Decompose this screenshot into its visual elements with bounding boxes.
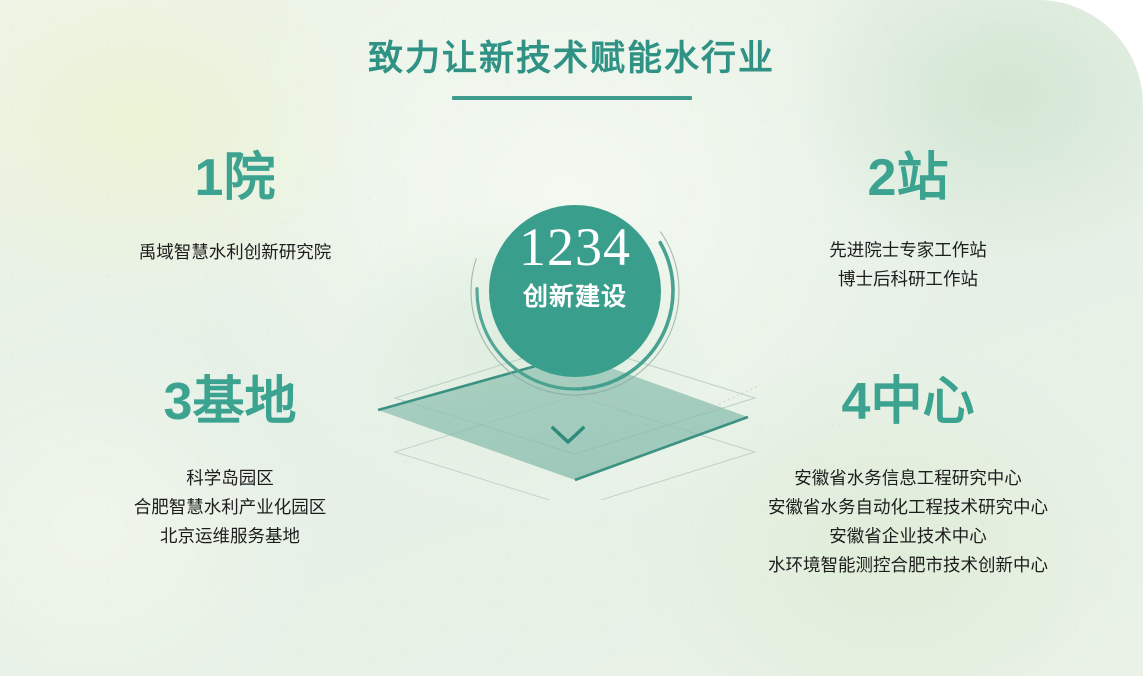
quadrant-station-heading: 2站 xyxy=(673,152,1143,204)
title-block: 致力让新技术赋能水行业 xyxy=(0,38,1143,100)
list-item: 博士后科研工作站 xyxy=(673,265,1143,294)
list-item: 安徽省水务信息工程研究中心 xyxy=(673,464,1143,493)
list-item: 先进院士专家工作站 xyxy=(673,236,1143,265)
quadrant-institute: 1院 禹域智慧水利创新研究院 xyxy=(0,152,470,267)
list-item: 合肥智慧水利产业化园区 xyxy=(0,493,460,522)
quadrant-institute-heading: 1院 xyxy=(0,152,470,204)
list-item: 禹域智慧水利创新研究院 xyxy=(0,238,470,267)
quadrant-center: 4中心 安徽省水务信息工程研究中心 安徽省水务自动化工程技术研究中心 安徽省企业… xyxy=(673,376,1143,580)
quadrant-institute-items: 禹域智慧水利创新研究院 xyxy=(0,238,470,267)
core-circle xyxy=(489,205,661,377)
quadrant-base: 3基地 科学岛园区 合肥智慧水利产业化园区 北京运维服务基地 xyxy=(0,376,460,551)
quadrant-center-heading: 4中心 xyxy=(673,376,1143,428)
list-item: 北京运维服务基地 xyxy=(0,522,460,551)
page-title: 致力让新技术赋能水行业 xyxy=(0,38,1143,80)
quadrant-center-items: 安徽省水务信息工程研究中心 安徽省水务自动化工程技术研究中心 安徽省企业技术中心… xyxy=(673,464,1143,580)
infographic-canvas: 致力让新技术赋能水行业 xyxy=(0,0,1143,676)
list-item: 科学岛园区 xyxy=(0,464,460,493)
list-item: 安徽省水务自动化工程技术研究中心 xyxy=(673,493,1143,522)
quadrant-base-items: 科学岛园区 合肥智慧水利产业化园区 北京运维服务基地 xyxy=(0,464,460,551)
quadrant-base-heading: 3基地 xyxy=(0,376,460,428)
list-item: 水环境智能测控合肥市技术创新中心 xyxy=(673,551,1143,580)
quadrant-station: 2站 先进院士专家工作站 博士后科研工作站 xyxy=(673,152,1143,294)
quadrant-station-items: 先进院士专家工作站 博士后科研工作站 xyxy=(673,236,1143,294)
title-underline-divider xyxy=(452,96,692,100)
list-item: 安徽省企业技术中心 xyxy=(673,522,1143,551)
